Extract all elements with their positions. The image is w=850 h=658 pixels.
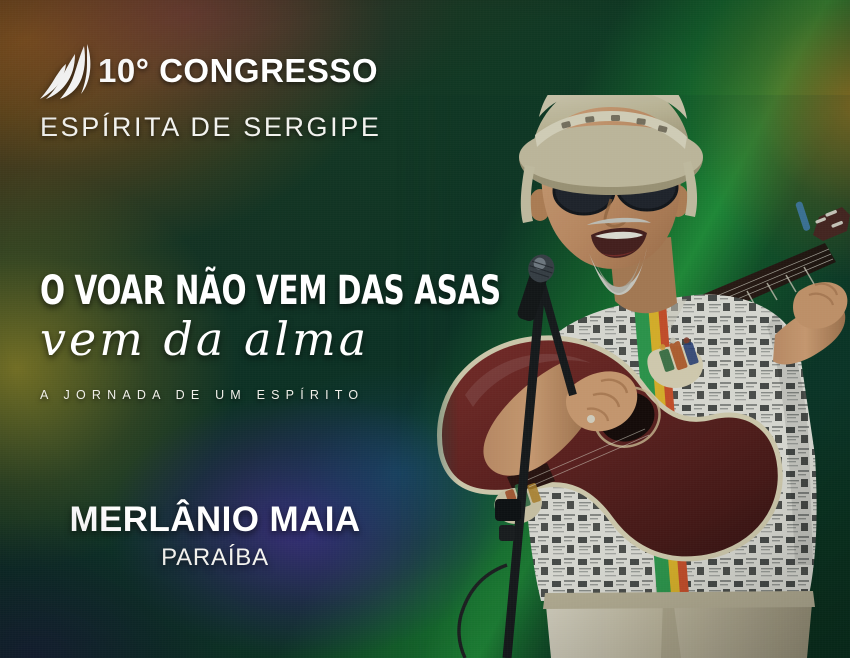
- event-poster: 10° CONGRESSO ESPÍRITA DE SERGIPE O VOAR…: [0, 0, 850, 658]
- background-grain: [0, 0, 850, 658]
